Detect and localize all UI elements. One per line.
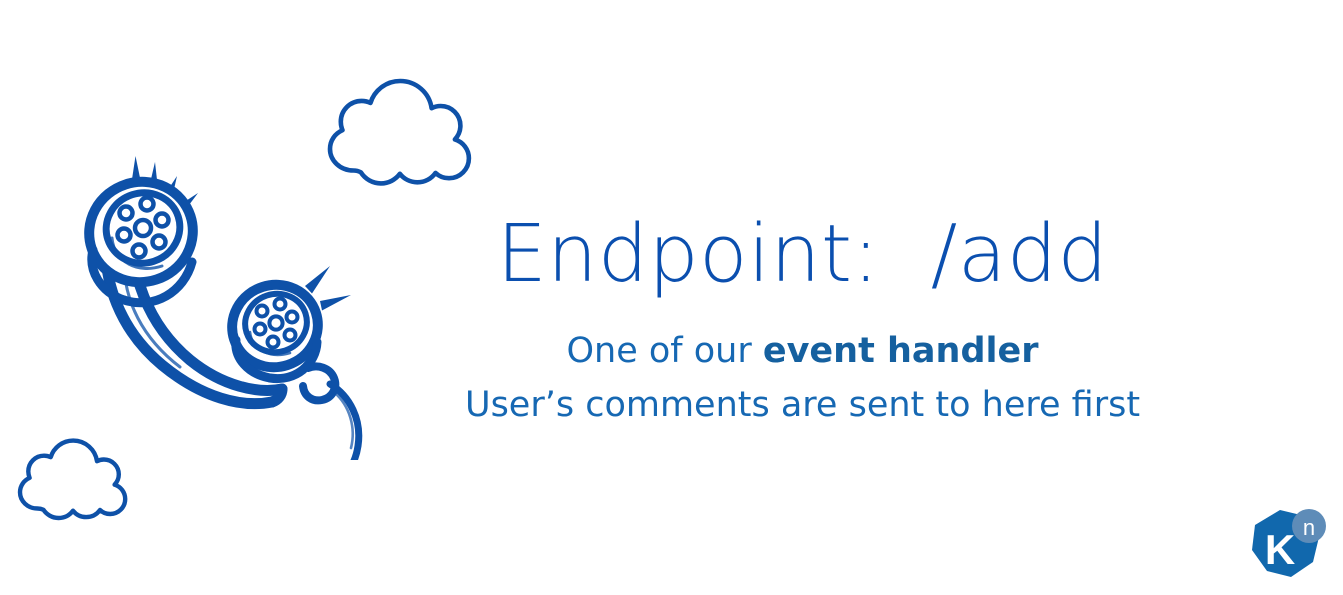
logo-letter-n: n bbox=[1303, 515, 1315, 540]
slide-canvas: Endpoint: /add One of our event handler … bbox=[0, 0, 1343, 595]
subtitle-line-2: User’s comments are sent to here first bbox=[430, 370, 1175, 424]
text-block: Endpoint: /add One of our event handler … bbox=[430, 215, 1175, 424]
telephone-handset-illustration bbox=[62, 140, 382, 460]
logo-letter-k: K bbox=[1265, 526, 1295, 573]
subtitle-line-1: One of our event handler bbox=[430, 294, 1175, 370]
brand-logo: K n bbox=[1247, 507, 1327, 583]
cloud-outline-icon bbox=[312, 62, 487, 187]
cloud-outline-icon bbox=[6, 424, 166, 524]
page-title: Endpoint: /add bbox=[430, 215, 1175, 294]
subtitle-line-1-emphasis: event handler bbox=[763, 331, 1039, 371]
subtitle-line-1-prefix: One of our bbox=[567, 331, 763, 371]
